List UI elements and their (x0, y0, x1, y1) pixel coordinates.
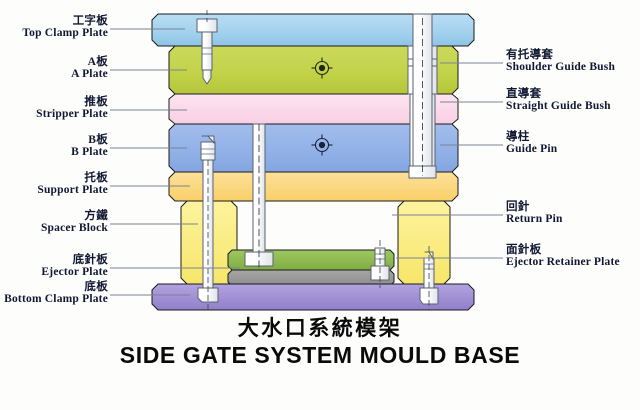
label-spacer-block-cn: 方鐵 (41, 211, 108, 223)
label-support-plate-en: Support Plate (37, 185, 108, 197)
label-straight-guide-bush: 直導套 Straight Guide Bush (506, 89, 611, 112)
mould-base-diagram-page: 工字板 Top Clamp Plate A板 A Plate 推板 Stripp… (0, 0, 640, 410)
label-stripper-plate: 推板 Stripper Plate (36, 97, 108, 120)
label-guide-pin: 導柱 Guide Pin (506, 132, 557, 155)
label-spacer-block: 方鐵 Spacer Block (41, 211, 108, 234)
label-shoulder-guide-bush: 有托導套 Shoulder Guide Bush (506, 50, 615, 73)
label-bottom-clamp-plate: 底板 Bottom Clamp Plate (4, 282, 108, 305)
label-ejector-retainer-plate-cn: 面針板 (506, 245, 620, 257)
label-a-plate-en: A Plate (71, 69, 108, 81)
label-a-plate-cn: A板 (71, 57, 108, 69)
cap-screw-shank-top (202, 32, 212, 70)
label-ejector-retainer-plate-en: Ejector Retainer Plate (506, 257, 620, 269)
label-top-clamp-plate-cn: 工字板 (22, 16, 108, 28)
label-a-plate: A板 A Plate (71, 57, 108, 80)
label-b-plate: B板 B Plate (71, 135, 108, 158)
label-ejector-retainer-plate: 面針板 Ejector Retainer Plate (506, 245, 620, 268)
label-return-pin-en: Return Pin (506, 214, 563, 226)
label-shoulder-guide-bush-en: Shoulder Guide Bush (506, 62, 615, 74)
ejector-pin-head-upper (201, 142, 215, 160)
label-support-plate: 托板 Support Plate (37, 173, 108, 196)
label-guide-pin-en: Guide Pin (506, 144, 557, 156)
label-shoulder-guide-bush-cn: 有托導套 (506, 50, 615, 62)
title-block: 大水口系統模架 SIDE GATE SYSTEM MOULD BASE (0, 317, 640, 369)
label-top-clamp-plate-en: Top Clamp Plate (22, 28, 108, 40)
label-return-pin: 回針 Return Pin (506, 202, 563, 225)
label-ejector-plate: 底針板 Ejector Plate (41, 255, 108, 278)
label-straight-guide-bush-en: Straight Guide Bush (506, 101, 611, 113)
label-straight-guide-bush-cn: 直導套 (506, 89, 611, 101)
label-bottom-clamp-plate-en: Bottom Clamp Plate (4, 294, 108, 306)
label-stripper-plate-en: Stripper Plate (36, 109, 108, 121)
label-b-plate-cn: B板 (71, 135, 108, 147)
label-spacer-block-en: Spacer Block (41, 223, 108, 235)
label-stripper-plate-cn: 推板 (36, 97, 108, 109)
label-return-pin-cn: 回針 (506, 202, 563, 214)
label-guide-pin-cn: 導柱 (506, 132, 557, 144)
title-english: SIDE GATE SYSTEM MOULD BASE (0, 342, 640, 368)
title-chinese: 大水口系統模架 (0, 317, 640, 340)
label-bottom-clamp-plate-cn: 底板 (4, 282, 108, 294)
label-ejector-plate-en: Ejector Plate (41, 267, 108, 279)
label-support-plate-cn: 托板 (37, 173, 108, 185)
label-b-plate-en: B Plate (71, 147, 108, 159)
label-top-clamp-plate: 工字板 Top Clamp Plate (22, 16, 108, 39)
label-ejector-plate-cn: 底針板 (41, 255, 108, 267)
